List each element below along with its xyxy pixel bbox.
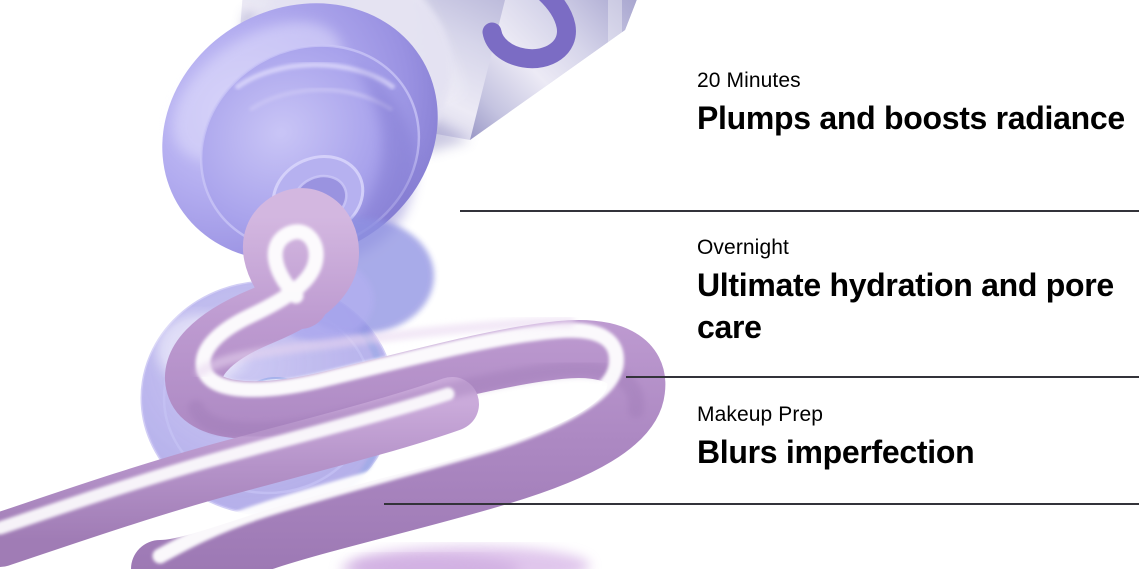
benefit-divider: [460, 210, 1139, 212]
benefit-title: Ultimate hydration and pore care: [697, 264, 1127, 348]
benefit-eyebrow: Overnight: [697, 235, 1127, 261]
product-benefits-banner: 20 Minutes Plumps and boosts radiance Ov…: [0, 0, 1139, 569]
benefit-text-block: Makeup Prep Blurs imperfection: [697, 402, 1127, 473]
benefit-title: Plumps and boosts radiance: [697, 97, 1127, 139]
benefit-text-block: 20 Minutes Plumps and boosts radiance: [697, 68, 1127, 139]
benefit-title: Blurs imperfection: [697, 431, 1127, 473]
benefit-divider: [384, 503, 1139, 505]
benefit-text-block: Overnight Ultimate hydration and pore ca…: [697, 235, 1127, 348]
benefits-list: 20 Minutes Plumps and boosts radiance Ov…: [0, 0, 1139, 569]
benefit-eyebrow: 20 Minutes: [697, 68, 1127, 94]
benefit-divider: [626, 376, 1139, 378]
benefit-eyebrow: Makeup Prep: [697, 402, 1127, 428]
